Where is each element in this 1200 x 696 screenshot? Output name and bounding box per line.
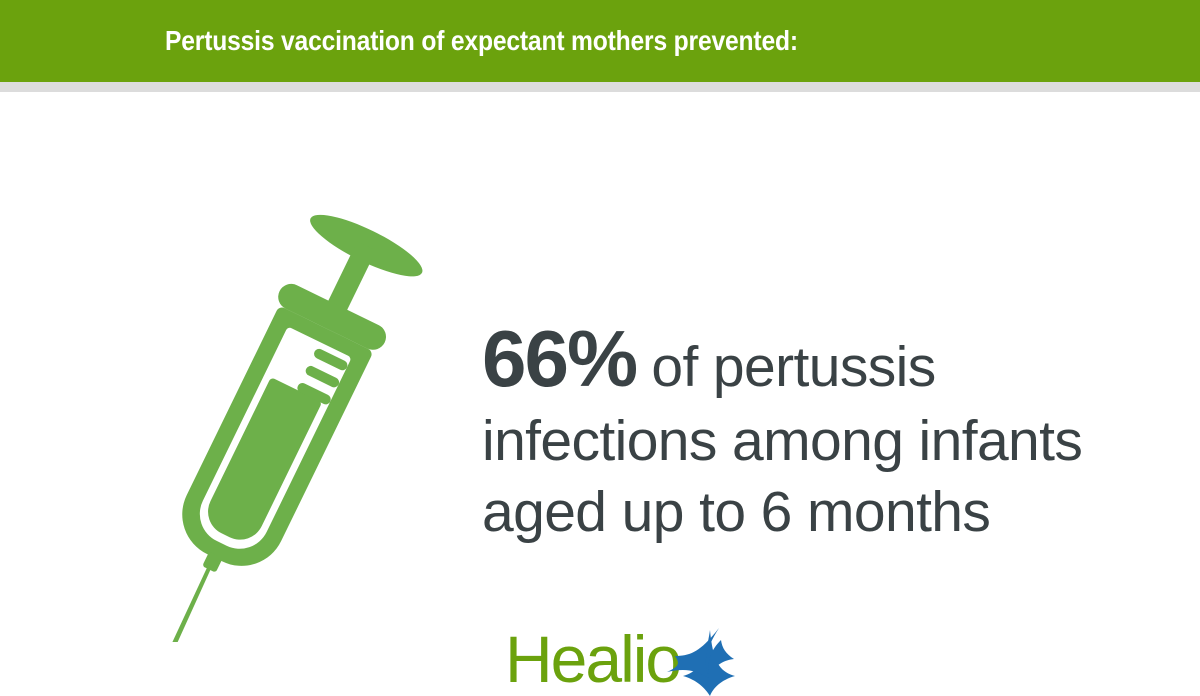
page-title: Pertussis vaccination of expectant mothe… [165, 0, 798, 82]
syringe-icon [140, 202, 480, 642]
stat-percent-value: 66% [482, 314, 636, 403]
main-content: 66% of pertussis infections among infant… [0, 92, 1200, 630]
healio-logo-graphic: Healio [505, 620, 735, 696]
statistic-text-block: 66% of pertussis infections among infant… [482, 320, 1082, 548]
header-divider [0, 82, 1200, 92]
stat-line-2: infections among infants [482, 406, 1082, 477]
stat-line-1-rest: of pertussis [636, 335, 936, 399]
healio-logo: Healio [505, 620, 735, 696]
healio-wordmark: Healio [505, 622, 680, 696]
syringe-graphic [140, 202, 480, 642]
stat-line-1: 66% of pertussis [482, 320, 1082, 406]
header-banner: Pertussis vaccination of expectant mothe… [0, 0, 1200, 82]
stat-line-3: aged up to 6 months [482, 477, 1082, 548]
